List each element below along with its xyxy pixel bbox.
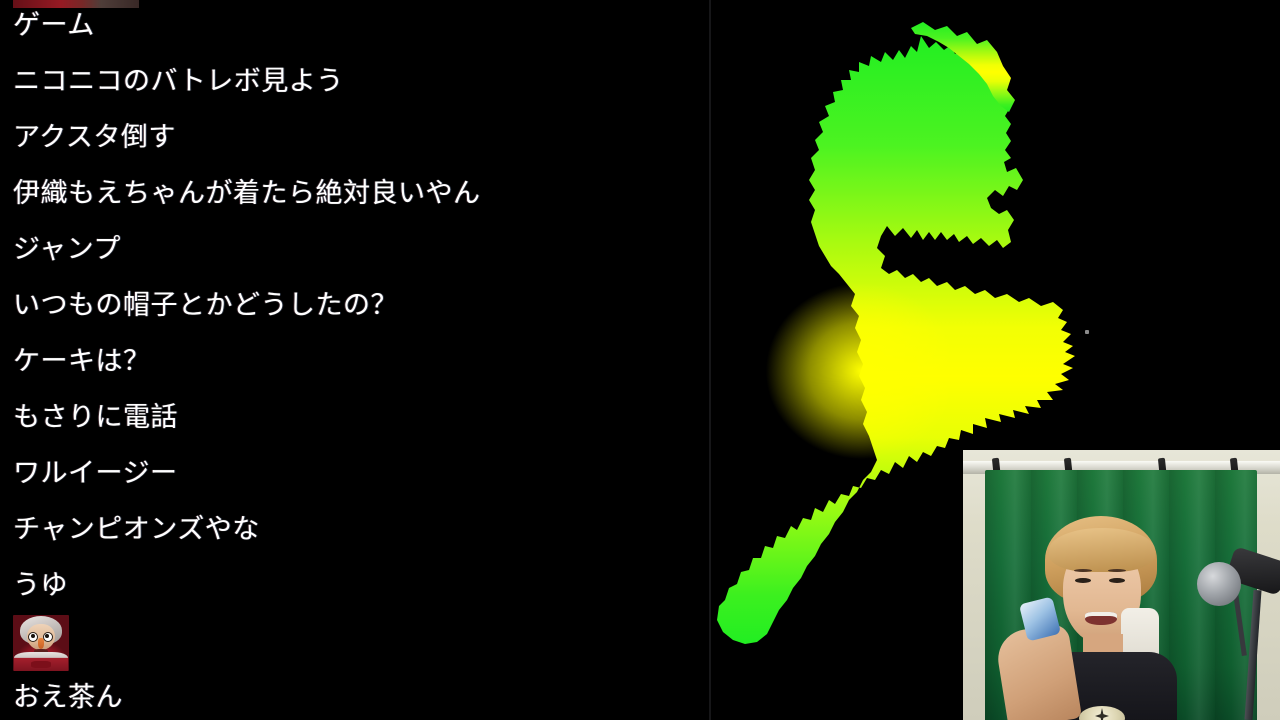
comment-row[interactable] (0, 613, 710, 669)
comment-row[interactable]: いつもの帽子とかどうしたの？ (0, 277, 710, 333)
map-center-glow (761, 250, 1001, 470)
comment-row[interactable]: ニコニコのバトレボ見よう (0, 53, 710, 109)
comment-row[interactable]: 伊織もえちゃんが着たら絶対良いやん (0, 165, 710, 221)
streamer-person (1035, 516, 1167, 720)
comment-row[interactable]: ゲーム (0, 0, 710, 53)
comment-text: アクスタ倒す (13, 124, 176, 151)
granny-nose-icon (38, 638, 45, 649)
comment-row[interactable]: チャンピオンズやな (0, 501, 710, 557)
microphone-head-icon (1197, 562, 1241, 606)
comment-text: ワルイージー (13, 460, 177, 487)
comment-text: ゲーム (13, 12, 95, 39)
person-eye-left (1075, 578, 1091, 583)
comment-text: ジャンプ (13, 236, 121, 263)
comment-row[interactable]: うゆ (0, 557, 710, 613)
comment-text: チャンピオンズやな (13, 516, 260, 543)
person-mouth (1085, 612, 1117, 625)
stream-overlay-screen: ゲーム ニコニコのバトレボ見よう アクスタ倒す 伊織もえちゃんが着たら絶対良いや… (0, 0, 1280, 720)
comment-text: うゆ (13, 572, 68, 599)
comment-text: ニコニコのバトレボ見よう (13, 68, 344, 95)
streamer-webcam[interactable] (963, 450, 1280, 720)
person-eyebrow-right (1108, 569, 1126, 572)
comment-text: もさりに電話 (13, 404, 178, 431)
granny-bow-icon (31, 661, 50, 668)
comment-text: おえ茶ん (13, 684, 123, 711)
granny-pupil-left-icon (31, 634, 35, 638)
comment-text: 伊織もえちゃんが着たら絶対良いやん (13, 180, 481, 207)
stray-pixel-dot (1085, 330, 1089, 334)
comment-text: いつもの帽子とかどうしたの？ (13, 292, 398, 319)
person-eyebrow-left (1074, 569, 1092, 572)
person-fringe-shape (1049, 528, 1155, 572)
comment-row[interactable]: もさりに電話 (0, 389, 710, 445)
comment-row[interactable]: おえ茶ん (0, 669, 710, 720)
comment-row[interactable]: ワルイージー (0, 445, 710, 501)
person-eye-right (1109, 578, 1125, 583)
granny-emote-icon (13, 615, 69, 671)
comment-row[interactable]: ジャンプ (0, 221, 710, 277)
comment-row[interactable]: アクスタ倒す (0, 109, 710, 165)
comment-feed-panel[interactable]: ゲーム ニコニコのバトレボ見よう アクスタ倒す 伊織もえちゃんが着たら絶対良いや… (0, 0, 710, 720)
comment-text: ケーキは？ (13, 348, 151, 375)
comment-row[interactable]: ケーキは？ (0, 333, 710, 389)
comment-list: ゲーム ニコニコのバトレボ見よう アクスタ倒す 伊織もえちゃんが着たら絶対良いや… (0, 0, 710, 720)
